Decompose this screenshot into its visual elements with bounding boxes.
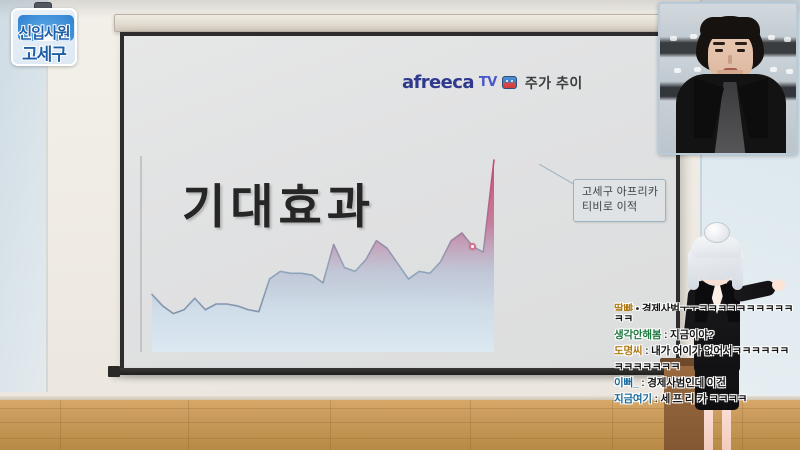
slide-surface: 기대효과 afreecaTV 주가 추이	[124, 36, 676, 370]
avatar-leg-right	[722, 406, 731, 450]
chart-subtitle: 주가 추이	[525, 73, 583, 93]
chat-message: 지금여기 : 세 프 리 카 ㅋㅋㅋㅋ	[614, 392, 800, 407]
chat-separator: :	[639, 377, 648, 389]
avatar-hair-bun	[704, 222, 730, 243]
afreecatv-mascot-icon	[502, 76, 517, 89]
chat-text: ㅋㅋ	[614, 313, 633, 325]
chat-text: ㅋㅋㅋㅋㅋㅋㅋ	[614, 361, 680, 373]
chat-message: 이뻐_ : 경제사범인데 이건	[614, 376, 800, 391]
chat-text: 세 프 리 카 ㅋㅋㅋㅋ	[661, 393, 748, 405]
annotation-line-2: 티비로 이적	[582, 200, 658, 215]
chat-message: ㅋㅋㅋㅋㅋㅋㅋ	[614, 360, 800, 375]
webcam-feed[interactable]	[658, 2, 798, 155]
chat-separator: :	[661, 329, 670, 341]
chat-nickname: 도명씨	[614, 345, 642, 357]
avatar-hand-right	[772, 279, 785, 291]
afreecatv-tv-suffix: TV	[479, 75, 497, 90]
chart-title: afreecaTV 주가 추이	[402, 72, 583, 93]
chat-text: 지금이야?	[670, 329, 714, 341]
screen-roller-case	[114, 14, 680, 32]
chat-nickname: 생각안해봄	[614, 329, 661, 341]
chat-nickname: 이뻐_	[614, 377, 639, 389]
show-logo-line-2: 고세구	[13, 40, 75, 65]
screen-bottom-weight-bar	[112, 368, 688, 375]
chat-nickname: 딸뺘	[614, 303, 633, 311]
chat-nickname: 지금여기	[614, 393, 652, 405]
chat-message: 도명씨 : 내가 어이가 없어서ㅋㅋㅋㅋㅋㅋ	[614, 344, 800, 359]
chat-separator: :	[652, 393, 661, 405]
chat-text: 경제사범ㅜㅜㅋㅋㅋㅋㅋㅋㅋㅋㅋㅋ	[642, 303, 793, 311]
chart-annotation: 고세구 아프리카 티비로 이적	[573, 179, 666, 222]
chat-text: 내가 어이가 없어서ㅋㅋㅋㅋㅋㅋ	[651, 345, 789, 357]
chat-separator: :	[642, 345, 651, 357]
avatar-leg-left	[704, 406, 713, 450]
chat-message: 생각안해봄 : 지금이야?	[614, 328, 800, 343]
chat-message: 딸뺘 • 경제사범ㅜㅜㅋㅋㅋㅋㅋㅋㅋㅋㅋㅋ	[614, 302, 800, 311]
stream-chat-overlay: 딸뺘 • 경제사범ㅜㅜㅋㅋㅋㅋㅋㅋㅋㅋㅋㅋㅋㅋ생각안해봄 : 지금이야?도명씨 …	[614, 302, 800, 408]
chat-message: ㅋㅋ	[614, 312, 800, 327]
webcam-person-fringe	[700, 17, 760, 39]
screen-bottom-cap-left	[108, 366, 120, 377]
afreecatv-wordmark: afreeca	[402, 72, 474, 93]
show-logo-badge: 신입사원 고세구	[4, 2, 86, 68]
screen-frame: 기대효과 afreecaTV 주가 추이	[120, 32, 680, 370]
data-point-marker-icon	[469, 243, 476, 250]
annotation-leader-line	[539, 164, 577, 186]
logo-board: 신입사원 고세구	[11, 8, 77, 66]
annotation-line-1: 고세구 아프리카	[582, 185, 658, 200]
chat-text: 경제사범인데 이건	[647, 377, 725, 389]
chat-separator: •	[633, 303, 642, 311]
